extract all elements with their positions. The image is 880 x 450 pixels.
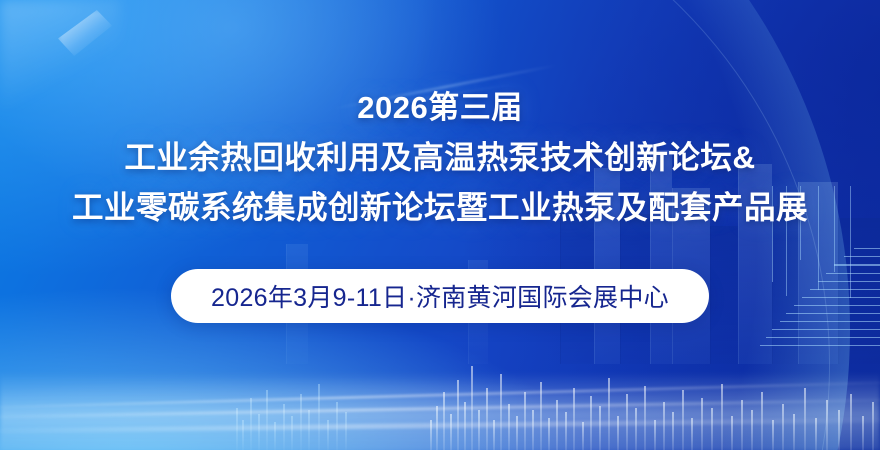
banner-content: 2026第三届 工业余热回收利用及高温热泵技术创新论坛& 工业零碳系统集成创新论… [0,0,880,450]
event-banner: 2026第三届 工业余热回收利用及高温热泵技术创新论坛& 工业零碳系统集成创新论… [0,0,880,450]
event-date-venue-text: 2026年3月9-11日·济南黄河国际会展中心 [211,278,669,314]
event-date-venue-pill: 2026年3月9-11日·济南黄河国际会展中心 [171,269,709,323]
title-line-1: 2026第三届 [357,92,522,123]
title-line-3: 工业零碳系统集成创新论坛暨工业热泵及配套产品展 [72,192,808,224]
title-line-2: 工业余热回收利用及高温热泵技术创新论坛& [124,142,755,174]
